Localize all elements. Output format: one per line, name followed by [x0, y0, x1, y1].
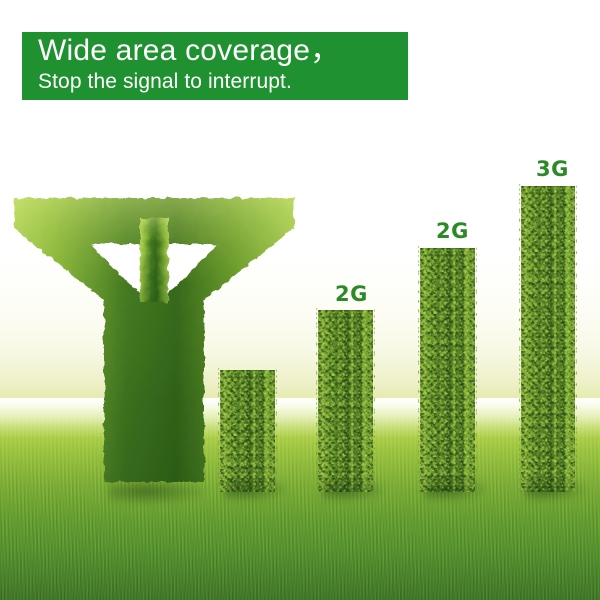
bar-3-label: 2G	[436, 221, 469, 242]
bar-4-label: 3G	[536, 159, 569, 180]
bar-3-shadow	[424, 476, 486, 502]
bar-4-shadow	[525, 476, 585, 502]
bar-2-shadow	[322, 476, 384, 502]
poster-canvas: 2G 2G 3G Wide area coverage， Stop the si…	[0, 0, 600, 600]
bar-3	[420, 248, 475, 492]
banner-headline: Wide area coverage，	[38, 33, 340, 69]
bar-4	[521, 186, 575, 492]
headline-banner: Wide area coverage， Stop the signal to i…	[22, 32, 408, 100]
signal-tower-topiary	[8, 182, 300, 492]
banner-subline: Stop the signal to interrupt.	[38, 68, 292, 95]
bar-2-label: 2G	[335, 284, 368, 305]
bar-2	[318, 310, 373, 492]
